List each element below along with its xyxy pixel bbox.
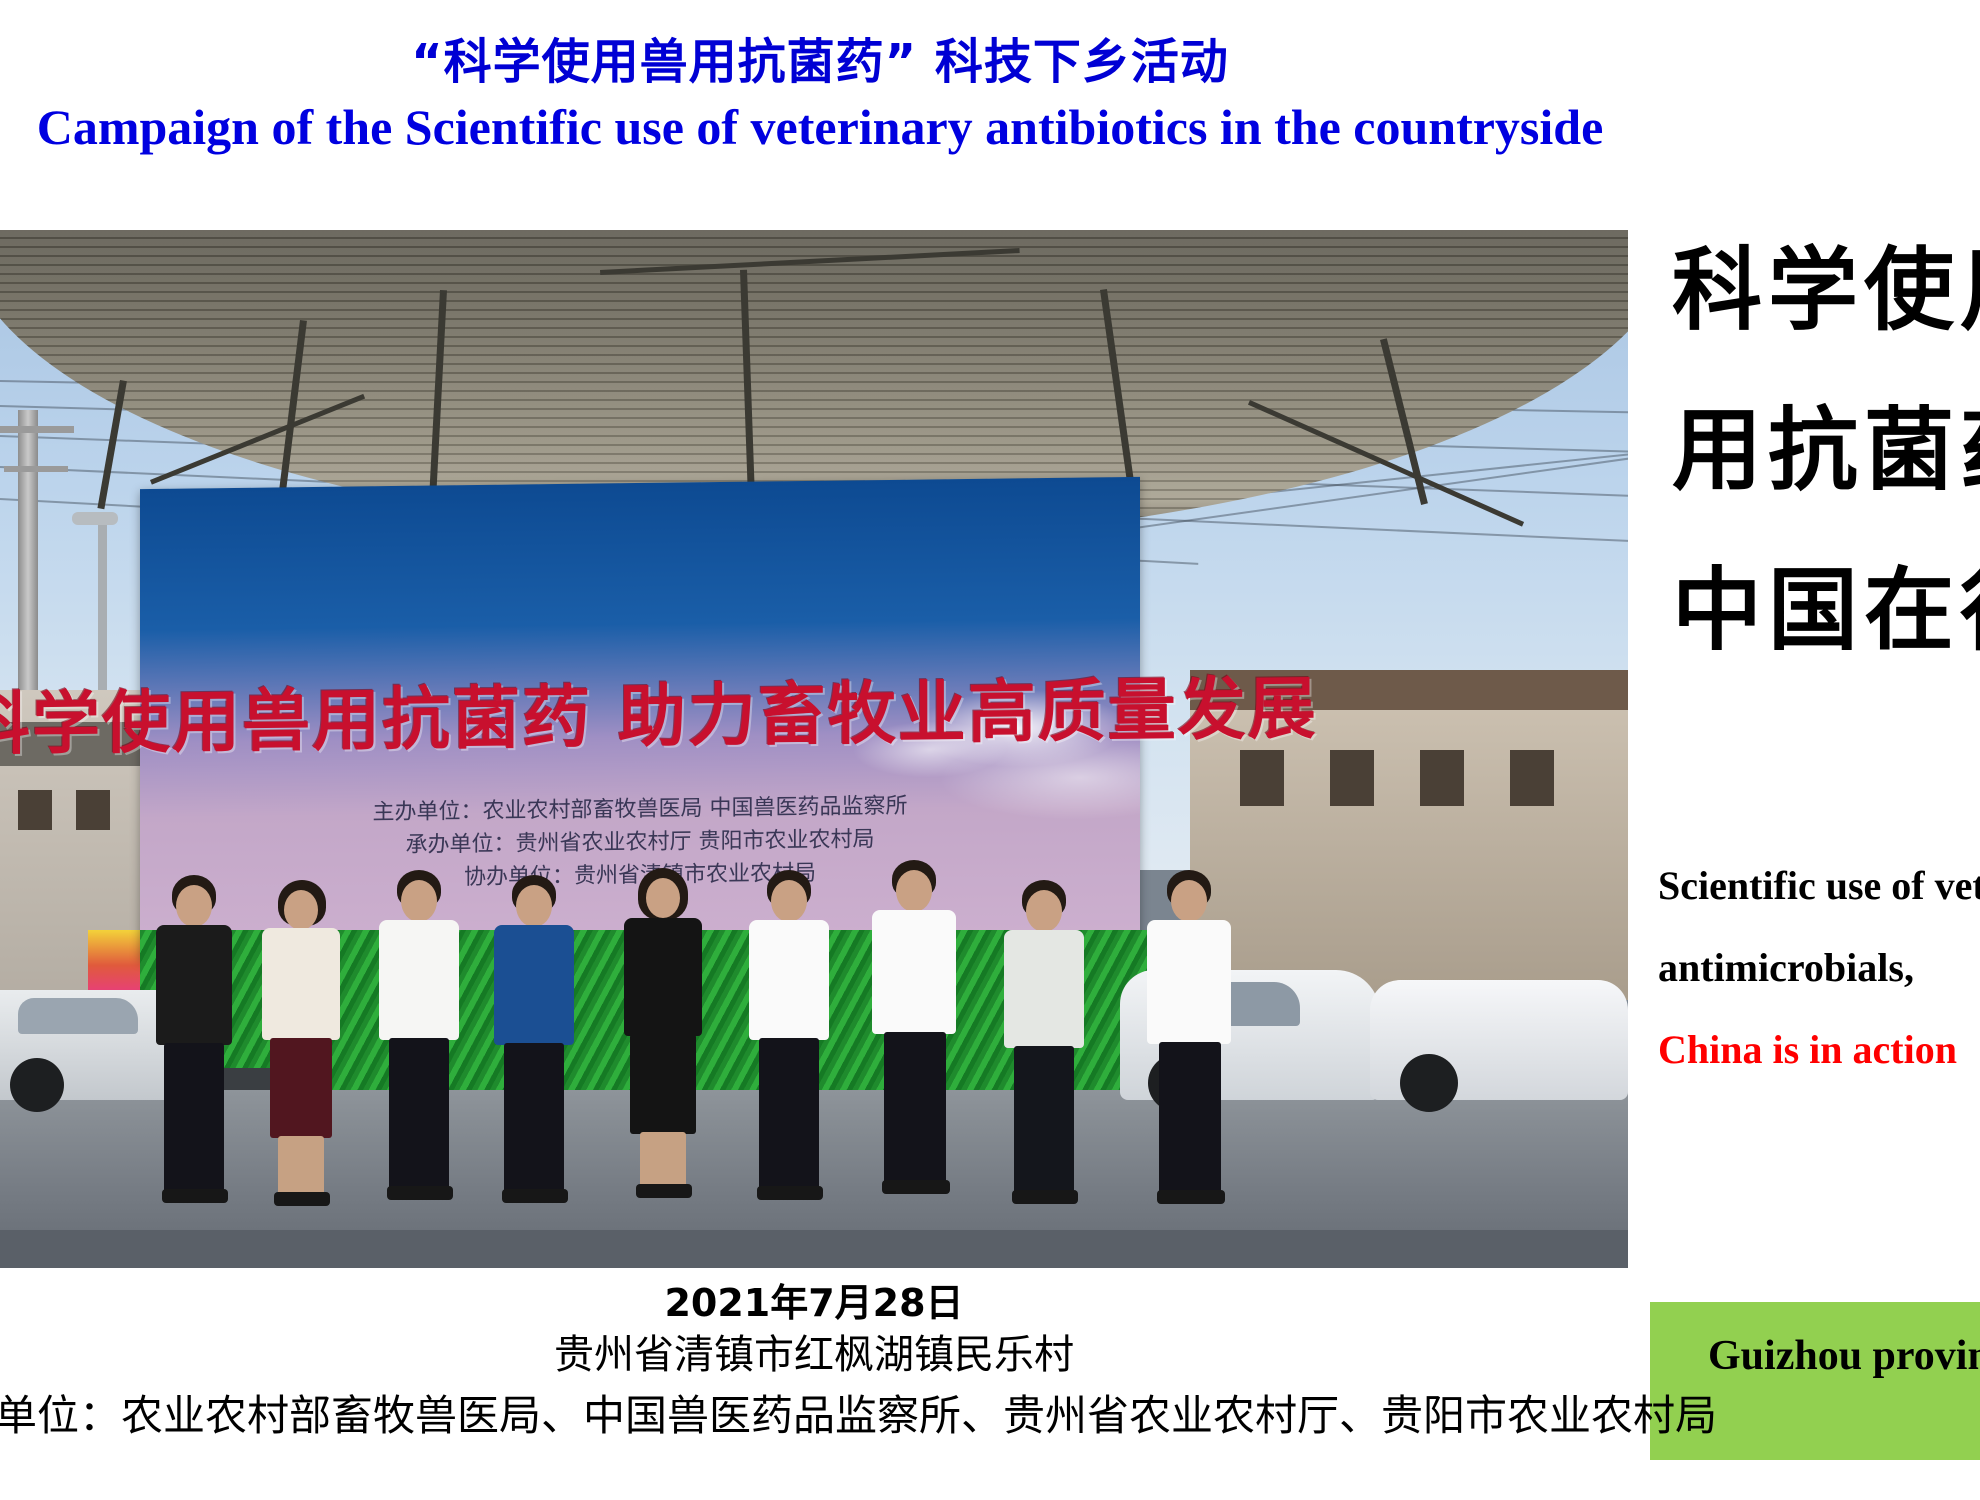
attendee-8-torso <box>1004 930 1084 1048</box>
page-title-english: Campaign of the Scientific use of veteri… <box>0 98 1810 156</box>
attendee-3-legs <box>389 1038 449 1190</box>
guizhou-province-label: Guizhou province <box>1708 1332 1980 1380</box>
side-slogan-line-1: 科学使用兽 <box>1672 210 1980 370</box>
side-slogan-line-2: 用抗菌药， <box>1672 370 1980 530</box>
ground-pavement-shadow <box>0 1230 1628 1268</box>
attendee-6-torso <box>749 920 829 1040</box>
car-left-wheel <box>10 1058 64 1112</box>
attendee-5-skirt <box>630 1034 696 1134</box>
attendee-1-legs <box>164 1043 224 1193</box>
utility-pole-crossarm-lower <box>4 466 68 472</box>
attendee-8-head <box>1026 890 1062 932</box>
building-right-window-1 <box>1240 750 1284 806</box>
building-left-window-1 <box>18 790 52 830</box>
side-panel-chinese-slogan: 科学使用兽 用抗菌药， 中国在行动 <box>1672 210 1980 690</box>
attendee-4-torso <box>494 925 574 1045</box>
street-lamp-head <box>72 512 118 525</box>
attendee-1-torso <box>156 925 232 1045</box>
attendee-3-torso <box>379 920 459 1040</box>
caption-place: 贵州省清镇市红枫湖镇民乐村 <box>0 1322 1628 1380</box>
building-right-window-3 <box>1420 750 1464 806</box>
event-photo: 科学使用兽用抗菌药 助力畜牧业高质量发展 主办单位：农业农村部畜牧兽医局 中国兽… <box>0 230 1628 1268</box>
side-panel-english-slogan: Scientific use of veterinary antimicrobi… <box>1658 845 1980 1091</box>
side-english-line-1: Scientific use of veterinary <box>1658 845 1980 927</box>
building-right-window-2 <box>1330 750 1374 806</box>
attendee-2-torso <box>262 928 340 1040</box>
attendee-7-shoes <box>882 1180 950 1194</box>
attendee-9-head <box>1171 880 1207 922</box>
attendee-2-head <box>284 890 318 930</box>
attendee-1-shoes <box>162 1189 228 1203</box>
attendee-5-shoes <box>636 1184 692 1198</box>
attendee-7-torso <box>872 910 956 1034</box>
attendee-9-shoes <box>1157 1190 1225 1204</box>
attendee-1-head <box>176 885 212 927</box>
side-english-line-2: antimicrobials, <box>1658 927 1980 1009</box>
attendee-9-legs <box>1159 1042 1221 1194</box>
attendee-8-legs <box>1014 1046 1074 1194</box>
attendee-3-shoes <box>387 1186 453 1200</box>
building-right-window-4 <box>1510 750 1554 806</box>
attendee-2-skirt <box>270 1038 332 1138</box>
building-left-window-2 <box>76 790 110 830</box>
attendee-5-legs <box>640 1132 686 1188</box>
caption-organizers: 主办单位：农业农村部畜牧兽医局、中国兽医药品监察所、贵州省农业农村厅、贵阳市农业… <box>0 1382 1804 1443</box>
attendee-5-torso <box>624 918 702 1036</box>
car-left-windshield <box>18 998 138 1034</box>
attendee-6-legs <box>759 1038 819 1190</box>
side-english-line-3: China is in action <box>1658 1009 1980 1091</box>
attendee-4-legs <box>504 1043 564 1193</box>
caption-date: 2021年7月28日 <box>0 1272 1628 1327</box>
page-title-chinese: “科学使用兽用抗菌药” 科技下乡活动 <box>0 22 1810 92</box>
attendee-2-shoes <box>274 1192 330 1206</box>
attendee-7-head <box>896 870 932 912</box>
utility-pole-crossarm-top <box>0 426 74 433</box>
attendee-8-shoes <box>1012 1190 1078 1204</box>
attendee-7-legs <box>884 1032 946 1184</box>
side-slogan-line-3: 中国在行动 <box>1672 530 1980 690</box>
attendee-2-legs <box>278 1136 324 1196</box>
car-right-front-wheel <box>1400 1054 1458 1112</box>
attendee-9-torso <box>1147 920 1231 1044</box>
attendee-5-head <box>646 878 680 918</box>
attendee-6-shoes <box>757 1186 823 1200</box>
attendee-6-head <box>771 880 807 922</box>
attendee-3-head <box>401 880 437 922</box>
attendee-4-head <box>516 885 552 927</box>
attendee-4-shoes <box>502 1189 568 1203</box>
